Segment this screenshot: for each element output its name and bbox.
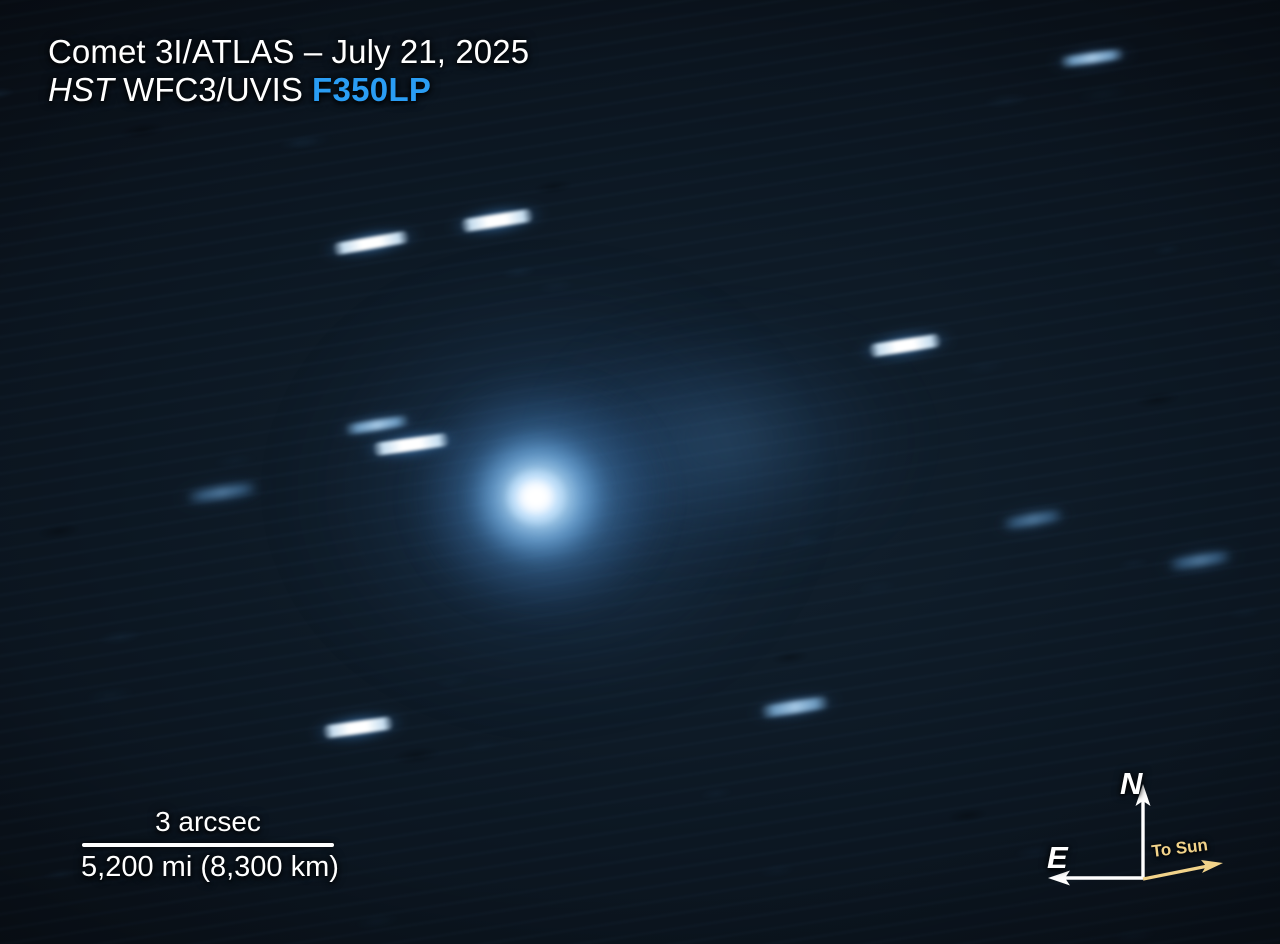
scale-bar: 3 arcsec 5,200 mi (8,300 km) [40, 806, 380, 884]
hubble-comet-image: Comet 3I/ATLAS – July 21, 2025 HST WFC3/… [0, 0, 1280, 944]
filter-label: F350LP [312, 71, 431, 108]
star-trail [1001, 508, 1066, 530]
star-trail [759, 696, 830, 719]
compass-east-label: E [1047, 840, 1068, 876]
scale-bar-line [82, 843, 334, 847]
instrument-label: WFC3/UVIS [123, 71, 303, 108]
scale-bar-physical-label: 5,200 mi (8,300 km) [40, 851, 380, 884]
page-title: Comet 3I/ATLAS – July 21, 2025 [48, 34, 529, 70]
star-trail [185, 481, 260, 503]
star-trail [1059, 48, 1126, 67]
star-trail [371, 432, 450, 456]
observatory-label: HST [48, 71, 114, 108]
instrument-line: HST WFC3/UVIS F350LP [48, 72, 529, 108]
star-trail [1167, 549, 1234, 570]
star-trail [867, 333, 942, 357]
scale-bar-angular-label: 3 arcsec [82, 806, 334, 838]
star-trail [459, 208, 534, 232]
title-block: Comet 3I/ATLAS – July 21, 2025 HST WFC3/… [48, 34, 529, 107]
star-trail [321, 716, 394, 739]
compass-north-label: N [1120, 766, 1142, 802]
compass-rose: N E To Sun [1020, 760, 1260, 900]
to-sun-arrow [1143, 860, 1223, 879]
